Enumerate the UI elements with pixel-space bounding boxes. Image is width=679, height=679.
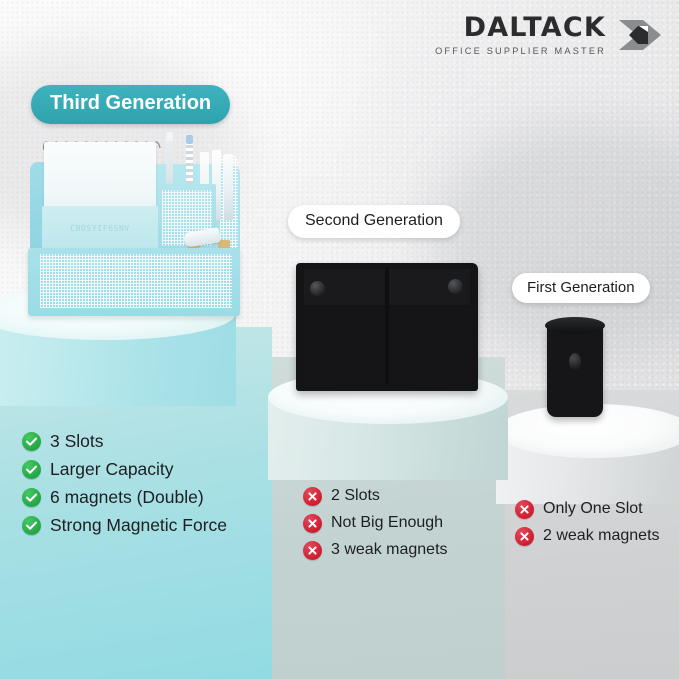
magnet-icon [569, 353, 581, 370]
notepad [44, 142, 156, 216]
product-comparison-infographic: CBDSYIF6SNV DALTACK OFFICE SUPPLIER MAST… [0, 0, 679, 679]
logo-row: DALTACK OFFICE SUPPLIER MASTER [435, 14, 663, 56]
feature-text: Only One Slot [543, 501, 643, 518]
product-first-generation [543, 313, 607, 419]
cross-icon [515, 527, 534, 546]
check-icon [22, 432, 41, 451]
brand-logo: DALTACK OFFICE SUPPLIER MASTER [435, 14, 663, 56]
cross-icon [303, 487, 322, 506]
memo-card-text: CBDSYIF6SNV [48, 224, 152, 233]
cross-icon [303, 514, 322, 533]
feature-text: 6 magnets (Double) [50, 488, 204, 506]
feature-row: Larger Capacity [22, 460, 227, 479]
badge-third-generation: Third Generation [31, 85, 230, 124]
product-second-generation [296, 263, 478, 391]
marker-pen [224, 154, 233, 220]
check-icon [22, 516, 41, 535]
feature-row: 3 Slots [22, 432, 227, 451]
cross-icon [303, 541, 322, 560]
front-panel-mesh [40, 254, 232, 308]
mesh-cup-rim [545, 317, 605, 334]
chevron-arrow-mark-icon [615, 17, 663, 53]
magnet-icon [448, 279, 463, 294]
badge-first-generation: First Generation [512, 273, 650, 303]
feature-row: 2 weak magnets [515, 527, 660, 546]
feature-row: Only One Slot [515, 500, 660, 519]
brand-tagline: OFFICE SUPPLIER MASTER [435, 46, 606, 56]
feature-row: 6 magnets (Double) [22, 488, 227, 507]
pedestal-first-gen [496, 404, 679, 504]
feature-text: 2 weak magnets [543, 528, 660, 545]
feature-row: 3 weak magnets [303, 541, 448, 560]
feature-row: Strong Magnetic Force [22, 516, 227, 535]
product-third-generation: CBDSYIF6SNV [22, 140, 250, 320]
feature-text: Not Big Enough [331, 515, 443, 532]
organizer-front-panel [28, 248, 240, 316]
badge-second-generation: Second Generation [288, 205, 460, 238]
cross-icon [515, 500, 534, 519]
feature-text: 2 Slots [331, 488, 380, 505]
pencil-eraser-icon [166, 132, 173, 141]
magnet-icon [310, 281, 325, 296]
brand-name: DALTACK [435, 14, 606, 41]
feature-row: 2 Slots [303, 487, 448, 506]
mesh-box-divider [385, 267, 389, 383]
feature-text: Strong Magnetic Force [50, 516, 227, 534]
feature-list-second-generation: 2 Slots Not Big Enough 3 weak magnets [303, 487, 448, 568]
feature-list-first-generation: Only One Slot 2 weak magnets [515, 500, 660, 554]
feature-text: Larger Capacity [50, 460, 174, 478]
pencil-eraser-icon [186, 135, 193, 144]
feature-list-third-generation: 3 Slots Larger Capacity 6 magnets (Doubl… [22, 432, 227, 544]
mesh-cup-body [547, 323, 603, 417]
feature-text: 3 weak magnets [331, 542, 448, 559]
feature-row: Not Big Enough [303, 514, 448, 533]
feature-text: 3 Slots [50, 432, 104, 450]
check-icon [22, 460, 41, 479]
check-icon [22, 488, 41, 507]
